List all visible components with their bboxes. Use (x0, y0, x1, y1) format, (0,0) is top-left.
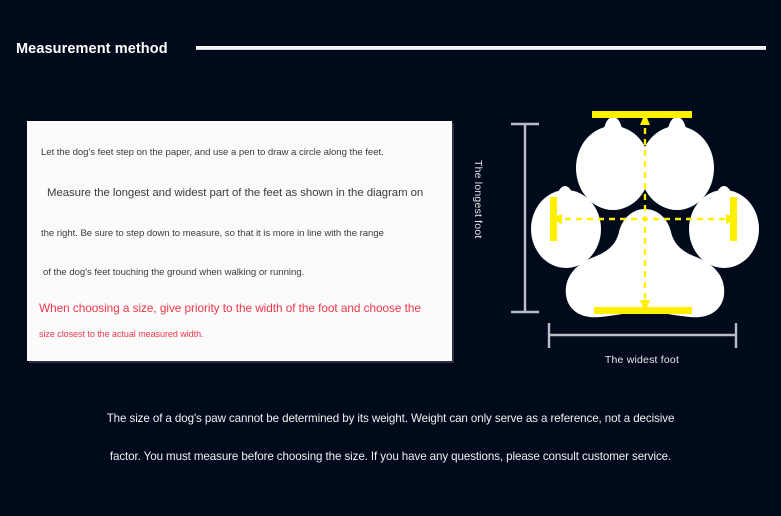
longest-foot-label: The longest foot (472, 160, 484, 239)
page-title: Measurement method (16, 36, 168, 62)
yellow-bar-top (592, 111, 692, 118)
instruction-warning-line-2: size closest to the actual measured widt… (39, 329, 203, 339)
yellow-bar-bottom (594, 307, 692, 314)
instruction-line-1: Let the dog's feet step on the paper, an… (41, 147, 384, 158)
toe-pad-outer-left (531, 190, 601, 268)
instruction-line-2: Measure the longest and widest part of t… (47, 187, 423, 199)
page-root: Measurement method Let the dog's feet st… (0, 0, 781, 516)
widest-foot-bracket-icon (549, 323, 736, 348)
toe-pad-inner-right (640, 126, 714, 210)
paw-diagram-svg (480, 85, 780, 375)
footer-line-2: factor. You must measure before choosing… (0, 450, 781, 463)
toe-pad-inner-left (576, 126, 650, 210)
header-divider (196, 46, 766, 50)
paw-measurement-diagram (480, 85, 780, 375)
widest-foot-label: The widest foot (548, 354, 736, 366)
footer-line-1: The size of a dog's paw cannot be determ… (0, 412, 781, 425)
instruction-line-3: the right. Be sure to step down to measu… (41, 228, 384, 239)
instruction-line-4: of the dog's feet touching the ground wh… (43, 267, 304, 278)
page-header: Measurement method (0, 36, 781, 70)
toe-pad-outer-right (689, 190, 759, 268)
instruction-card: Let the dog's feet step on the paper, an… (27, 121, 452, 361)
instruction-warning-line-1: When choosing a size, give priority to t… (39, 301, 421, 315)
